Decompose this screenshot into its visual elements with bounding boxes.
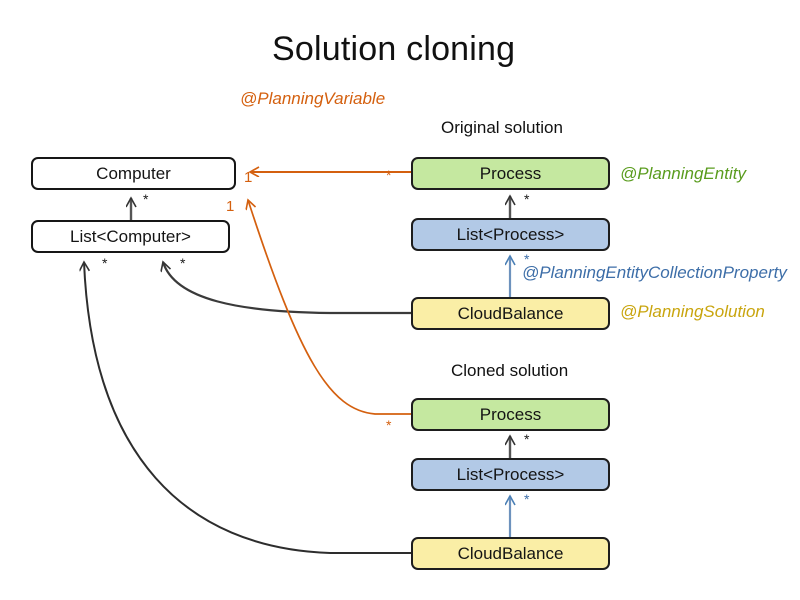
- multiplicity-cloned-list-to-process: *: [524, 432, 529, 446]
- multiplicity-cloned-process-star: *: [386, 418, 391, 432]
- annotation-planning-entity-collection-property: @PlanningEntityCollectionProperty: [522, 263, 787, 283]
- multiplicity-listcomputer-right-star: *: [180, 256, 185, 270]
- node-cloned-process[interactable]: Process: [411, 398, 610, 431]
- node-original-cloudbalance[interactable]: CloudBalance: [411, 297, 610, 330]
- edge-original-cloudbalance-to-listcomputer: [163, 262, 411, 313]
- node-list-computer[interactable]: List<Computer>: [31, 220, 230, 253]
- page-title: Solution cloning: [272, 30, 515, 69]
- annotation-planning-variable: @PlanningVariable: [240, 89, 385, 109]
- annotation-planning-entity: @PlanningEntity: [620, 164, 746, 184]
- multiplicity-computer-from-original-process: 1: [244, 170, 252, 185]
- node-cloned-cloudbalance[interactable]: CloudBalance: [411, 537, 610, 570]
- edge-layer: [0, 0, 800, 600]
- node-cloned-list-process[interactable]: List<Process>: [411, 458, 610, 491]
- multiplicity-original-list-to-process: *: [524, 192, 529, 206]
- edge-cloned-cloudbalance-to-listcomputer: [84, 262, 411, 553]
- multiplicity-cloned-cb-to-list: *: [524, 492, 529, 506]
- node-original-list-process[interactable]: List<Process>: [411, 218, 610, 251]
- solution-cloning-diagram: Solution cloning @PlanningVariable Origi…: [0, 0, 800, 600]
- multiplicity-computer-from-cloned-process: 1: [226, 199, 234, 214]
- node-original-process[interactable]: Process: [411, 157, 610, 190]
- node-computer[interactable]: Computer: [31, 157, 236, 190]
- annotation-planning-solution: @PlanningSolution: [620, 302, 765, 322]
- multiplicity-original-cb-to-list: *: [524, 252, 529, 266]
- multiplicity-computer-listcomputer: *: [143, 192, 148, 206]
- section-title-cloned: Cloned solution: [451, 361, 568, 381]
- multiplicity-listcomputer-left-star: *: [102, 256, 107, 270]
- section-title-original: Original solution: [441, 118, 563, 138]
- multiplicity-original-process-star: *: [386, 168, 391, 182]
- edge-cloned-process-to-computer: [248, 200, 411, 414]
